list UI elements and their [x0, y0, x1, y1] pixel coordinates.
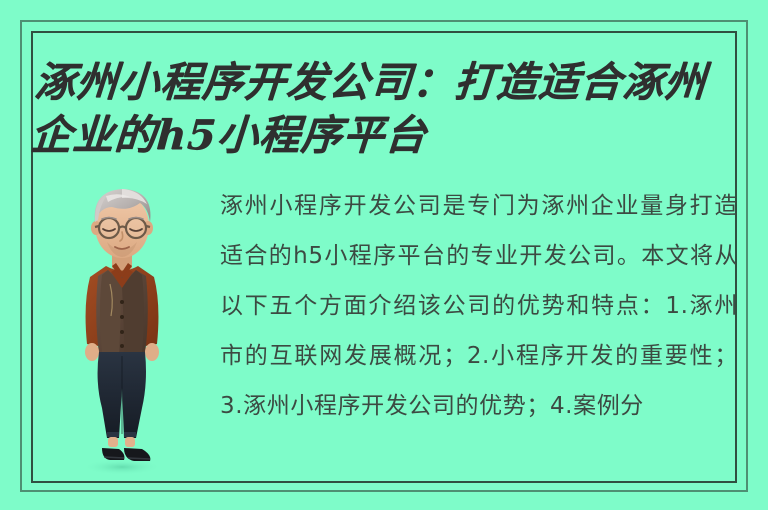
page-title: 涿州小程序开发公司：打造适合涿州企业的h5小程序平台: [29, 56, 748, 162]
cartoon-man-illustration: [62, 176, 182, 476]
poster-canvas: 涿州小程序开发公司：打造适合涿州企业的h5小程序平台: [0, 0, 768, 510]
article-body: 涿州小程序开发公司是专门为涿州企业量身打造适合的h5小程序平台的专业开发公司。本…: [220, 181, 738, 469]
